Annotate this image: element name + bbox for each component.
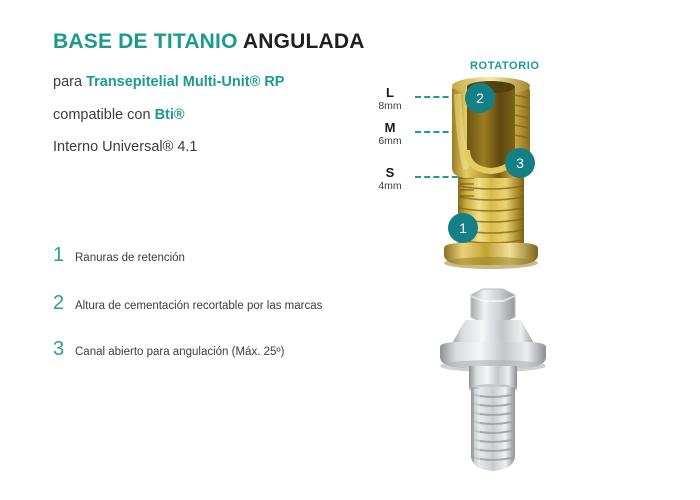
page-title-primary: BASE DE TITANIO — [53, 30, 238, 53]
subtitle-line-3: Interno Universal® 4.1 — [53, 139, 197, 155]
subtitle-1-prefix: para — [53, 74, 86, 90]
page-title-secondary: ANGULADA — [243, 30, 365, 53]
hex-head — [471, 289, 515, 323]
screw-highlight — [474, 389, 480, 467]
callout-badge-2[interactable]: 2 — [465, 83, 495, 113]
legend-text-2: Altura de cementación recortable por las… — [75, 301, 322, 313]
legend-text-1: Ranuras de retención — [75, 253, 185, 265]
subtitle-2-prefix: compatible con — [53, 107, 155, 123]
list-item: 2 Altura de cementación recortable por l… — [53, 293, 322, 313]
callout-badge-1[interactable]: 1 — [448, 213, 478, 243]
legend-text-3: Canal abierto para angulación (Máx. 25º) — [75, 347, 284, 359]
product-diagram: ROTATORIO L 8mm M 6mm S 4mm — [370, 50, 600, 480]
list-item: 3 Canal abierto para angulación (Máx. 25… — [53, 339, 284, 359]
legend-number-2: 2 — [53, 293, 75, 313]
product-sheet: BASE DE TITANIO ANGULADA para Transepite… — [0, 0, 700, 500]
subtitle-1-highlight: Transepitelial Multi-Unit® RP — [86, 74, 284, 90]
page-title: BASE DE TITANIO ANGULADA — [53, 30, 365, 54]
subtitle-line-1: para Transepitelial Multi-Unit® RP — [53, 74, 284, 90]
list-item: 1 Ranuras de retención — [53, 245, 185, 265]
legend-number-3: 3 — [53, 339, 75, 359]
callout-badge-3[interactable]: 3 — [505, 148, 535, 178]
subtitle-2-highlight: Bti® — [155, 107, 185, 123]
legend-number-1: 1 — [53, 245, 75, 265]
subtitle-line-2: compatible con Bti® — [53, 107, 185, 123]
silver-abutment-illustration — [370, 287, 600, 487]
flange-shadow — [444, 257, 538, 269]
